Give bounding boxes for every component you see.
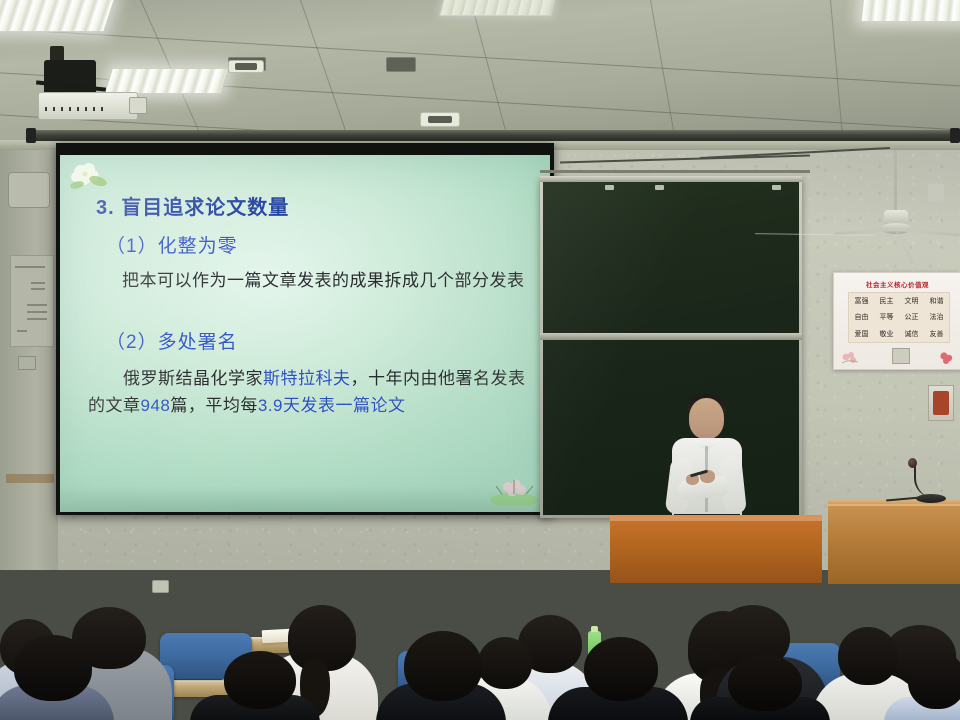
slide-body-2: 俄罗斯结晶化学家斯特拉科夫，十年内由他署名发表的文章948篇，平均每3.9天发表… <box>88 365 536 419</box>
poster-value: 友善 <box>924 326 949 342</box>
chalkboard-clip <box>605 185 614 190</box>
poster-value: 文明 <box>899 293 924 309</box>
slide-body-2-run-0: 俄罗斯结晶化学家 <box>88 369 263 388</box>
slide-body-2-run-5: 3.9天发表一篇论文 <box>258 396 406 415</box>
presenter-head <box>689 398 724 439</box>
poster-value: 诚信 <box>899 326 924 342</box>
ceiling-speaker <box>420 112 460 127</box>
poster-value: 平等 <box>874 309 899 325</box>
slide-body-1-text: 把本可以作为一篇文章发表的成果拆成几个部分发表 <box>122 271 525 290</box>
slide-subheading-2: （2）多处署名 <box>106 327 238 354</box>
poster-value: 自由 <box>849 309 874 325</box>
ceiling-vent <box>386 57 416 72</box>
poster-value: 富强 <box>849 293 874 309</box>
ceiling-light-panel <box>0 0 116 32</box>
poster-value: 公正 <box>899 309 924 325</box>
wall-outlet <box>18 356 36 370</box>
poster-value: 民主 <box>874 293 899 309</box>
chalkboard-clip <box>772 185 781 190</box>
light-switch[interactable] <box>892 348 910 364</box>
wall-molding <box>540 170 810 173</box>
poster-values-grid: 富强 民主 文明 和谐 自由 平等 公正 法治 爱国 敬业 诚信 友善 <box>848 292 950 343</box>
slide-body-1: 把本可以作为一篇文章发表的成果拆成几个部分发表 <box>88 267 528 294</box>
wall-notice-sheet <box>10 255 54 347</box>
poster-title: 社会主义核心价值观 <box>834 279 960 289</box>
projection-screen-roller <box>34 130 960 141</box>
wall-control-box <box>8 172 50 208</box>
ceiling-speaker <box>228 60 264 73</box>
audience-area <box>0 555 960 720</box>
projection-screen: 3. 盲目追求论文数量 （1）化整为零 把本可以作为一篇文章发表的成果拆成几个部… <box>60 155 550 512</box>
slide-body-2-run-3: 948 <box>141 396 171 415</box>
lecture-hall-photo: 3. 盲目追求论文数量 （1）化整为零 把本可以作为一篇文章发表的成果拆成几个部… <box>0 0 960 720</box>
wall-skirting <box>6 474 54 483</box>
slide-body-2-run-1: 斯特拉科夫 <box>263 369 351 388</box>
poster-value: 和谐 <box>924 293 949 309</box>
flower-decoration-icon <box>68 161 112 191</box>
screen-roller-cap <box>26 128 36 143</box>
flower-decoration-icon <box>937 349 957 365</box>
ceiling-light-panel <box>861 0 960 22</box>
flower-decoration-icon <box>840 349 860 365</box>
chalkboard-top-rail <box>540 176 802 182</box>
wall-plaque <box>928 385 954 421</box>
chalkboard-middle-rail <box>540 333 802 340</box>
slide-body-2-run-4: 篇，平均每 <box>170 396 258 415</box>
ceiling-light-panel <box>104 68 229 94</box>
slide-title: 3. 盲目追求论文数量 <box>96 191 289 220</box>
poster-value: 敬业 <box>874 326 899 342</box>
ceiling-fixture <box>928 184 944 202</box>
chalkboard-clip <box>655 185 664 190</box>
slide-subheading-1: （1）化整为零 <box>106 231 238 258</box>
ceiling-light-panel <box>439 0 556 16</box>
poster-value: 爱国 <box>849 326 874 342</box>
poster-value: 法治 <box>924 309 949 325</box>
ceiling <box>0 0 960 150</box>
screen-roller-cap <box>950 128 960 143</box>
